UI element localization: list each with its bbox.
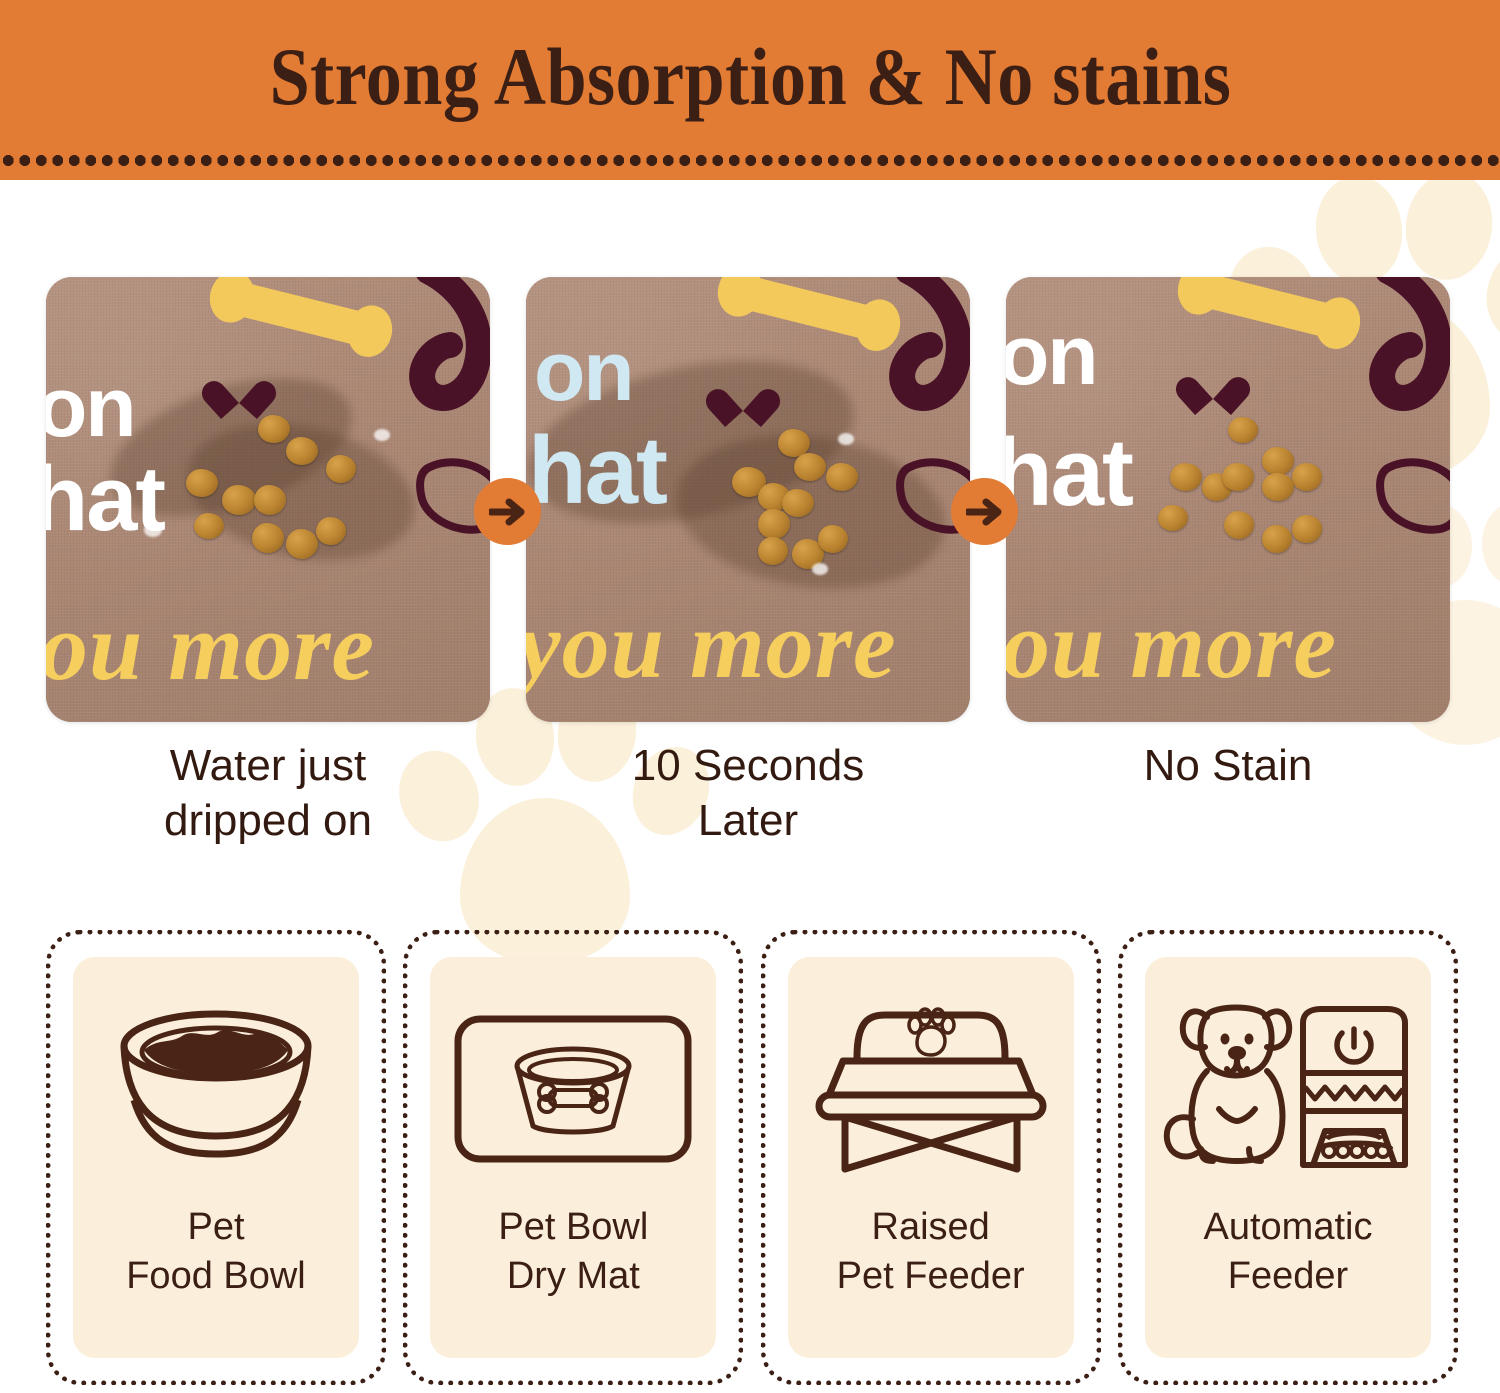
kibble bbox=[826, 463, 858, 491]
card-inner-panel: Pet Bowl Dry Mat bbox=[430, 957, 716, 1358]
mat-text-on: on bbox=[46, 369, 135, 446]
kibble bbox=[286, 437, 318, 465]
kibble bbox=[286, 529, 318, 559]
card-inner-panel: Pet Food Bowl bbox=[73, 957, 359, 1358]
kibble bbox=[222, 485, 256, 515]
mat-text-script: ou more bbox=[46, 591, 375, 702]
kibble bbox=[258, 415, 290, 443]
kibble bbox=[252, 523, 284, 553]
arrow-right-glyph bbox=[489, 497, 527, 527]
kibble bbox=[1222, 463, 1254, 491]
kibble bbox=[758, 537, 788, 565]
card-label: Raised Pet Feeder bbox=[837, 1203, 1025, 1300]
demo-photo-step-3: on hat ou more bbox=[1006, 277, 1450, 722]
kibble bbox=[1262, 473, 1294, 501]
raised-pet-feeder-icon bbox=[811, 983, 1051, 1195]
kibble bbox=[794, 453, 826, 481]
kibble bbox=[194, 513, 224, 539]
use-case-card-pet-bowl-dry-mat[interactable]: Pet Bowl Dry Mat bbox=[403, 930, 743, 1385]
kibble bbox=[316, 517, 346, 545]
mat-text-hat: hat bbox=[1006, 429, 1132, 517]
pet-food-bowl-icon bbox=[102, 983, 330, 1195]
use-case-cards: Pet Food Bowl bbox=[46, 930, 1458, 1385]
mat-text-script: ou more bbox=[1006, 589, 1337, 700]
caption-step-1: Water just dripped on bbox=[46, 738, 490, 848]
card-inner-panel: Automatic Feeder bbox=[1145, 957, 1431, 1358]
water-droplet bbox=[374, 429, 390, 441]
demo-photo-step-2: on hat you more bbox=[526, 277, 970, 722]
caption-step-2: 10 Seconds Later bbox=[526, 738, 970, 848]
mat-text-on: on bbox=[534, 333, 633, 410]
pet-bowl-dry-mat-icon bbox=[453, 983, 693, 1195]
mat-text-script: you more bbox=[526, 589, 897, 700]
water-droplet bbox=[812, 563, 828, 575]
header-dotted-divider bbox=[0, 155, 1500, 166]
feeder-machine bbox=[1303, 1009, 1405, 1165]
kibble bbox=[1262, 447, 1294, 475]
mat-text-hat: hat bbox=[528, 427, 666, 515]
kibble bbox=[1224, 511, 1254, 539]
page-title: Strong Absorption & No stains bbox=[269, 36, 1231, 118]
kibble bbox=[1158, 505, 1188, 531]
header-banner: Strong Absorption & No stains bbox=[0, 0, 1500, 180]
demo-captions: Water just dripped on 10 Seconds Later N… bbox=[46, 738, 1450, 848]
dog-silhouette-graphic bbox=[790, 277, 970, 571]
kibble bbox=[758, 509, 790, 539]
absorption-demo-strip: on hat ou more on hat you more bbox=[46, 277, 1450, 722]
kibble bbox=[254, 485, 286, 515]
kibble bbox=[1262, 525, 1292, 553]
power-icon bbox=[1337, 1029, 1371, 1062]
kibble bbox=[818, 525, 848, 553]
kibble bbox=[186, 469, 218, 497]
arrow-right-icon bbox=[951, 478, 1018, 545]
card-label: Automatic Feeder bbox=[1204, 1203, 1373, 1300]
use-case-card-raised-pet-feeder[interactable]: Raised Pet Feeder bbox=[761, 930, 1101, 1385]
kibble bbox=[1292, 463, 1322, 491]
water-droplet bbox=[838, 433, 854, 445]
kibble bbox=[326, 455, 356, 483]
kibble bbox=[1292, 515, 1322, 543]
heart-graphic bbox=[218, 375, 260, 413]
heart-graphic bbox=[722, 383, 764, 421]
kibble bbox=[782, 489, 814, 517]
card-label: Pet Food Bowl bbox=[126, 1203, 306, 1300]
demo-photo-step-1: on hat ou more bbox=[46, 277, 490, 722]
heart-graphic bbox=[1192, 371, 1234, 409]
arrow-right-glyph bbox=[966, 497, 1004, 527]
card-inner-panel: Raised Pet Feeder bbox=[788, 957, 1074, 1358]
kibble bbox=[1170, 463, 1202, 491]
paw-icon bbox=[909, 1009, 954, 1055]
arrow-right-icon bbox=[474, 478, 541, 545]
card-label: Pet Bowl Dry Mat bbox=[498, 1203, 648, 1300]
dog-illustration bbox=[1167, 1008, 1289, 1162]
automatic-feeder-icon bbox=[1163, 983, 1413, 1195]
use-case-card-pet-food-bowl[interactable]: Pet Food Bowl bbox=[46, 930, 386, 1385]
caption-step-3: No Stain bbox=[1006, 738, 1450, 848]
water-droplet bbox=[144, 523, 162, 537]
kibble bbox=[1228, 417, 1258, 443]
use-case-card-automatic-feeder[interactable]: Automatic Feeder bbox=[1118, 930, 1458, 1385]
mat-text-on: on bbox=[1006, 317, 1097, 394]
